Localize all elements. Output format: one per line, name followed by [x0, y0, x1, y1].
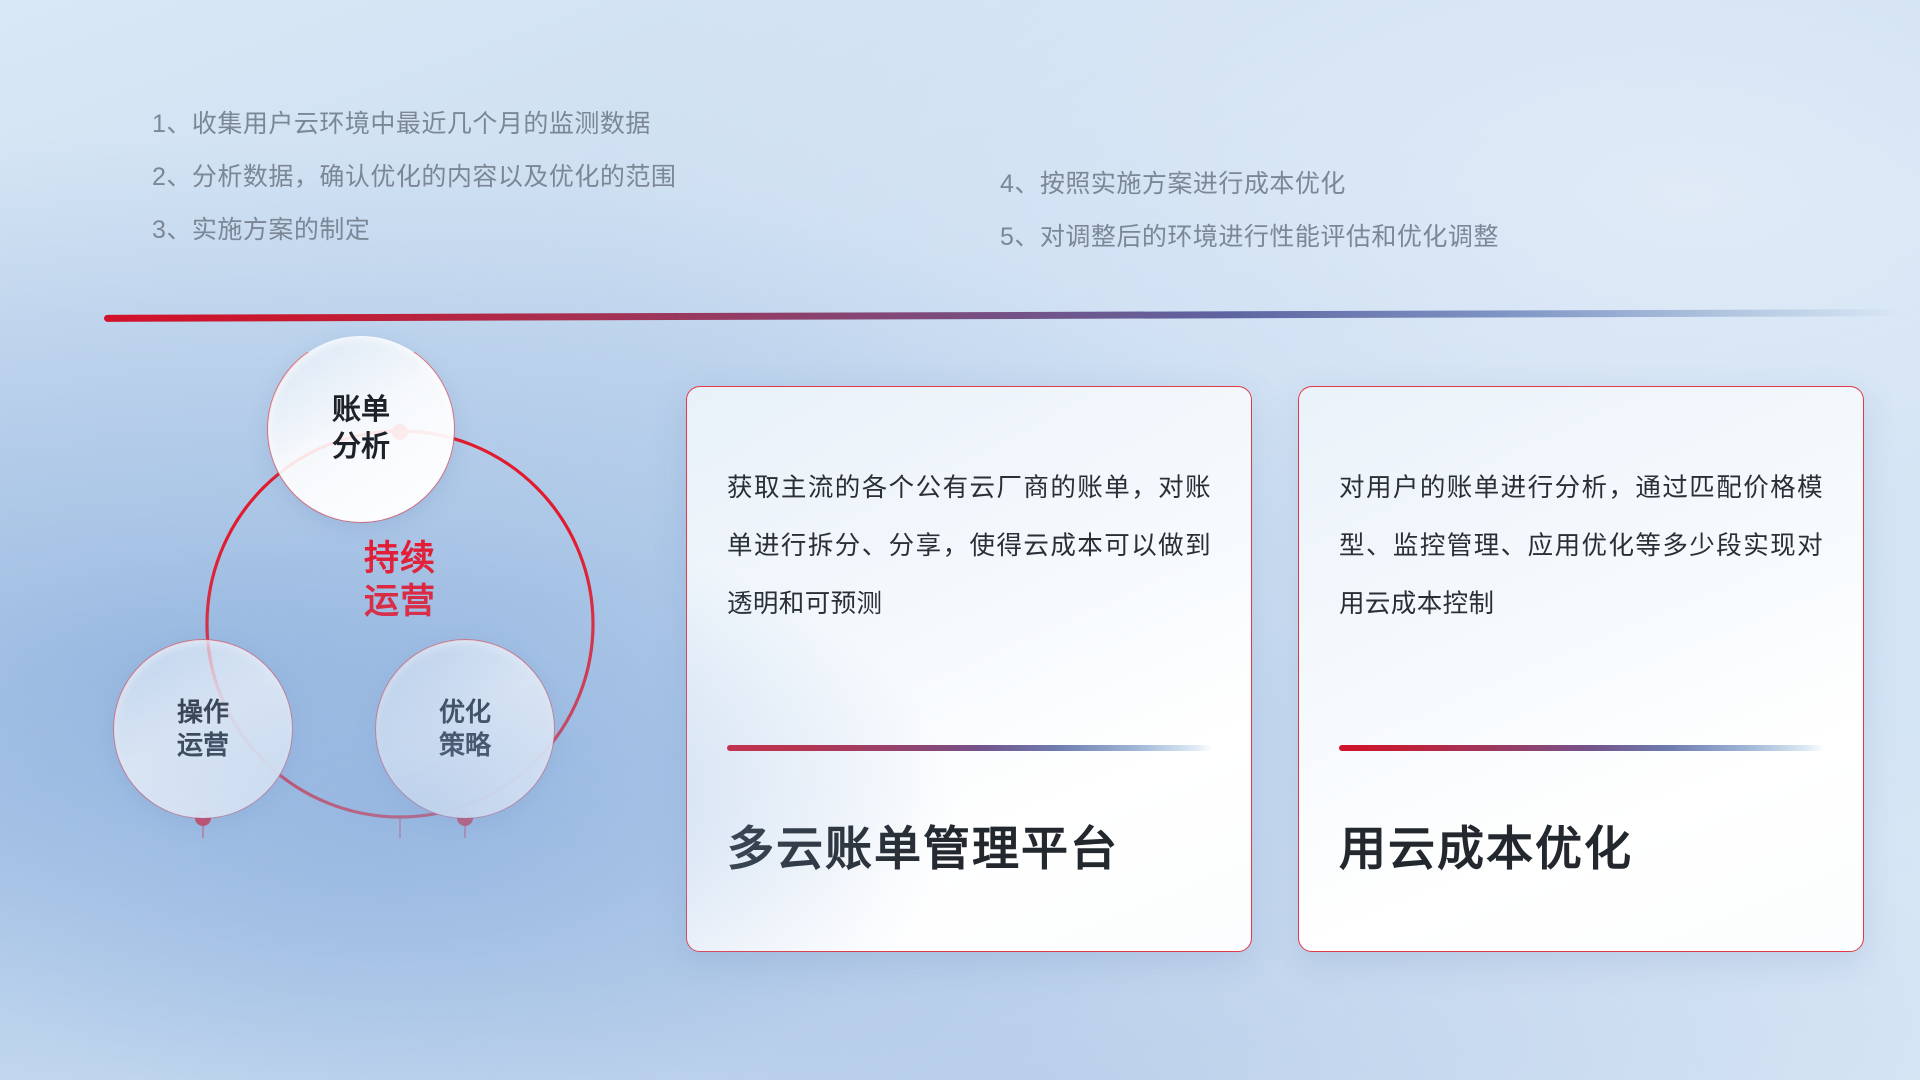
card-divider: [1339, 745, 1825, 751]
diagram-center-label: 持续 运营: [310, 538, 490, 623]
feature-card-cost-optimization[interactable]: 对用户的账单进行分析，通过匹配价格模型、监控管理、应用优化等多少段实现对用云成本…: [1298, 386, 1864, 952]
bullet-item: 5、对调整后的环境进行性能评估和优化调整: [1000, 211, 1499, 264]
section-divider: [104, 309, 1904, 322]
slide-canvas: 1、收集用户云环境中最近几个月的监测数据 2、分析数据，确认优化的内容以及优化的…: [0, 0, 1920, 1080]
bullet-item: 3、实施方案的制定: [152, 204, 676, 257]
diagram-node-operations[interactable]: 操作 运营: [114, 640, 292, 818]
card-description: 获取主流的各个公有云厂商的账单，对账单进行拆分、分享，使得云成本可以做到透明和可…: [727, 459, 1211, 633]
bullet-item: 2、分析数据，确认优化的内容以及优化的范围: [152, 151, 676, 204]
diagram-node-label: 优化 策略: [439, 696, 491, 762]
bullet-list-left: 1、收集用户云环境中最近几个月的监测数据 2、分析数据，确认优化的内容以及优化的…: [152, 98, 676, 257]
bullet-item: 1、收集用户云环境中最近几个月的监测数据: [152, 98, 676, 151]
card-description: 对用户的账单进行分析，通过匹配价格模型、监控管理、应用优化等多少段实现对用云成本…: [1339, 459, 1823, 633]
card-title: 用云成本优化: [1339, 810, 1825, 879]
continuous-operation-diagram: 账单 分析 操作 运营 优化 策略 持续 运营: [96, 352, 656, 972]
card-divider: [727, 745, 1213, 751]
diagram-node-label: 操作 运营: [177, 696, 229, 762]
diagram-node-bill-analysis[interactable]: 账单 分析: [268, 336, 454, 522]
diagram-node-optimization-strategy[interactable]: 优化 策略: [376, 640, 554, 818]
bullet-list-right: 4、按照实施方案进行成本优化 5、对调整后的环境进行性能评估和优化调整: [1000, 158, 1499, 264]
diagram-node-label: 账单 分析: [332, 392, 390, 465]
card-title: 多云账单管理平台: [727, 810, 1213, 879]
bullet-item: 4、按照实施方案进行成本优化: [1000, 158, 1499, 211]
feature-card-multicloud-billing[interactable]: 获取主流的各个公有云厂商的账单，对账单进行拆分、分享，使得云成本可以做到透明和可…: [686, 386, 1252, 952]
